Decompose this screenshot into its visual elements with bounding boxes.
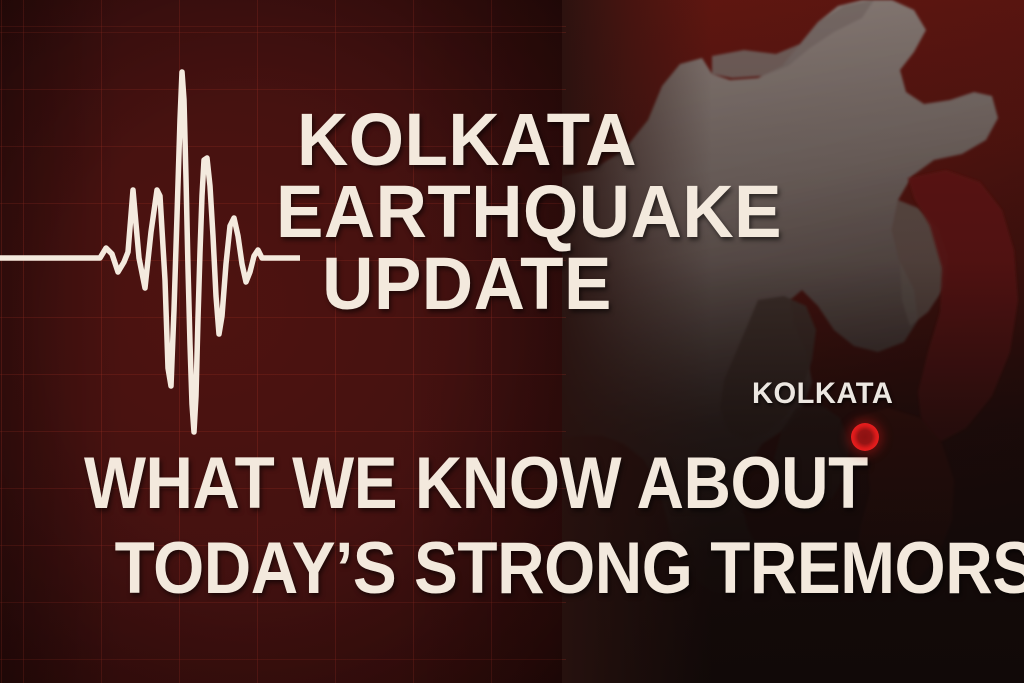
page-subtitle: WHAT WE KNOW ABOUT TODAY’S STRONG TREMOR…	[84, 441, 804, 612]
subtitle-line-1: WHAT WE KNOW ABOUT	[84, 441, 804, 526]
headline-line-2: EARTHQUAKE	[276, 176, 658, 248]
epicenter-marker-icon	[851, 423, 879, 451]
earthquake-news-card: KOLKATA EARTHQUAKE UPDATE WHAT WE KNOW A…	[0, 0, 1024, 683]
subtitle-line-2: TODAY’S STRONG TREMORS	[84, 526, 804, 611]
headline-line-1: KOLKATA	[276, 104, 658, 176]
city-label-kolkata: KOLKATA	[752, 377, 893, 411]
page-title: KOLKATA EARTHQUAKE UPDATE	[276, 104, 658, 320]
headline-line-3: UPDATE	[276, 248, 658, 320]
seismograph-waveform-icon	[0, 0, 300, 480]
